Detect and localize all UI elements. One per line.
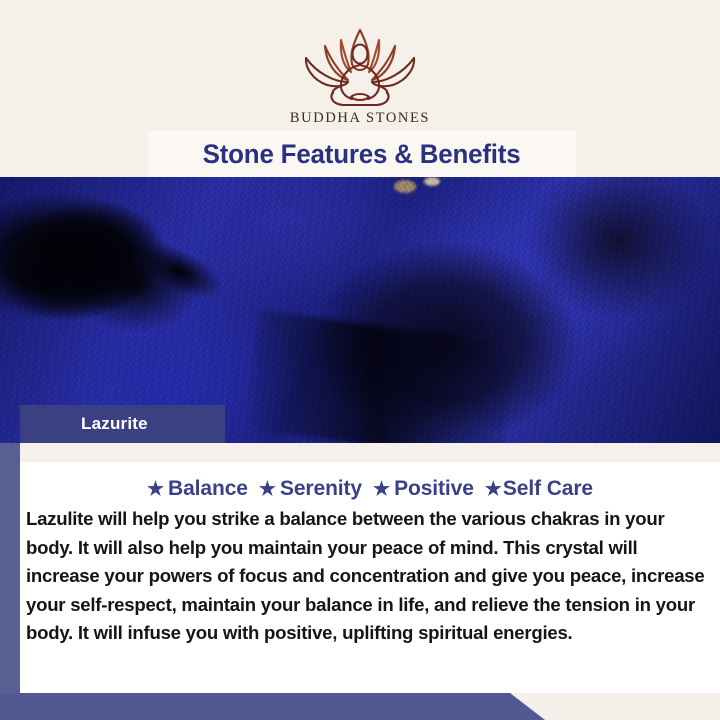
benefits-list: ★ Balance ★ Serenity ★ Positive ★ Self C…	[20, 477, 720, 501]
card-top-strip	[20, 443, 720, 462]
stone-name: Lazurite	[81, 414, 148, 434]
stone-info-poster: BUDDHA STONES Stone Features & Benefits …	[0, 0, 720, 720]
benefit-label: Serenity	[280, 477, 362, 501]
lotus-meditation-icon	[285, 22, 435, 108]
page-title: Stone Features & Benefits	[203, 139, 521, 170]
benefit-label: Balance	[168, 477, 248, 501]
stone-name-banner: Lazurite	[20, 405, 225, 443]
benefit-label: Positive	[394, 477, 474, 501]
brand-name: BUDDHA STONES	[0, 110, 720, 127]
star-icon: ★	[485, 480, 502, 499]
star-icon: ★	[259, 480, 276, 499]
stone-details-card: ★ Balance ★ Serenity ★ Positive ★ Self C…	[20, 443, 720, 693]
page-title-plate: Stone Features & Benefits	[148, 131, 576, 178]
benefit-item-balance: ★ Balance	[147, 477, 248, 501]
benefit-label: Self Care	[503, 477, 593, 501]
bottom-accent-bar	[0, 693, 545, 720]
stone-texture-overlay	[0, 177, 720, 443]
stone-description-text: Lazulite will help you strike a balance …	[26, 505, 708, 648]
benefit-item-self-care: ★ Self Care	[485, 477, 593, 501]
benefit-item-serenity: ★ Serenity	[259, 477, 362, 501]
stone-description: Lazulite will help you strike a balance …	[26, 505, 708, 648]
star-icon: ★	[373, 480, 390, 499]
benefit-item-positive: ★ Positive	[373, 477, 474, 501]
stone-photo	[0, 177, 720, 443]
left-accent-bar	[0, 443, 20, 693]
star-icon: ★	[147, 480, 164, 499]
brand-logo: BUDDHA STONES	[0, 22, 720, 127]
